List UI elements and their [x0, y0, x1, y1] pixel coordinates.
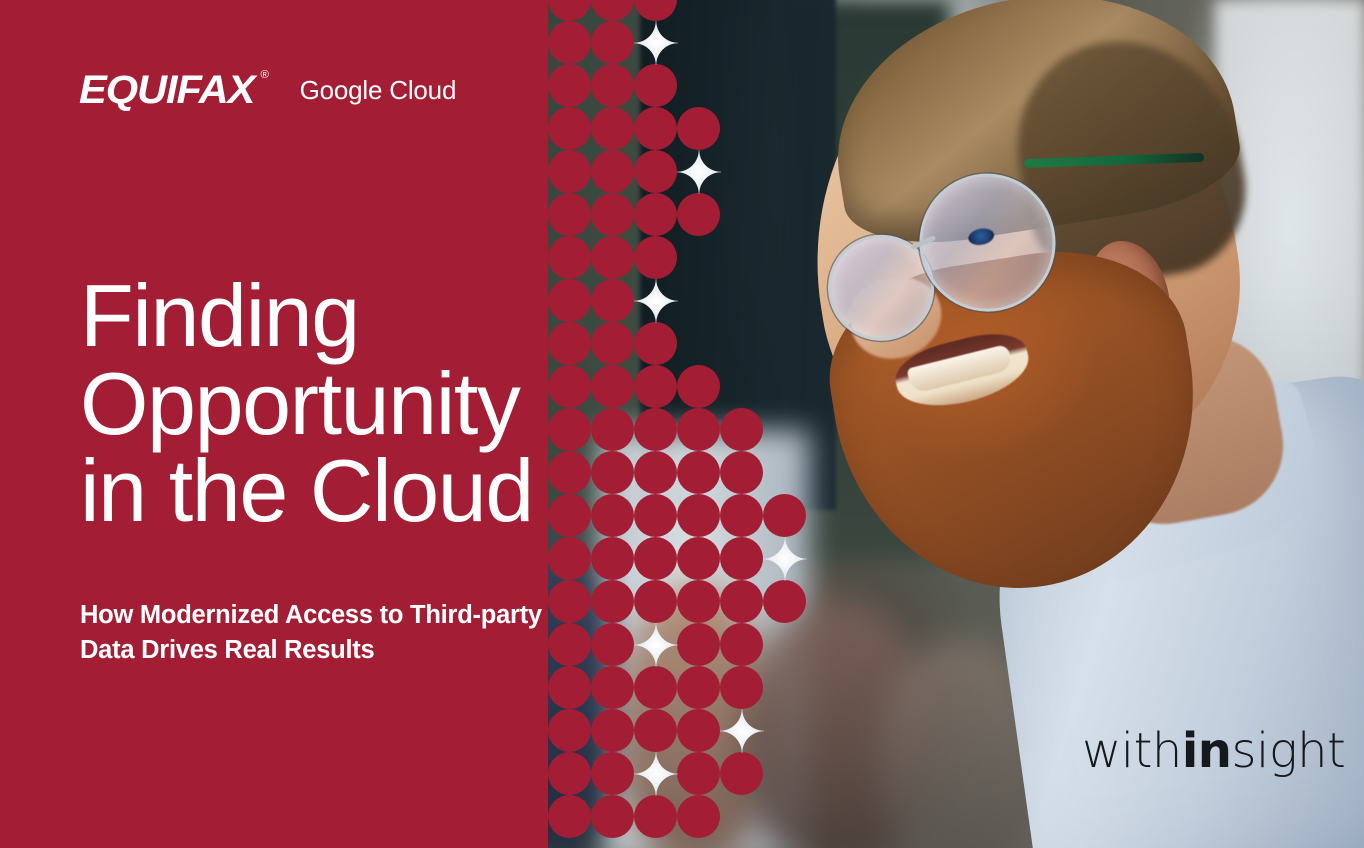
pattern-sparkle-icon	[634, 752, 678, 796]
pattern-circle	[634, 0, 677, 21]
withinsight-part-in: in	[1182, 723, 1232, 779]
pattern-sparkle-icon	[720, 709, 764, 753]
pattern-sparkle-icon	[763, 537, 807, 581]
google-cloud-logo: Google Cloud	[300, 77, 457, 103]
pattern-circle	[548, 537, 591, 580]
pattern-circle	[634, 150, 677, 193]
page-subtitle-line-2: Data Drives Real Results	[80, 633, 620, 668]
pattern-circle	[505, 64, 548, 107]
pattern-circle	[591, 666, 634, 709]
pattern-sparkle-icon	[634, 623, 678, 667]
pattern-circle	[677, 451, 720, 494]
pattern-circle	[591, 64, 634, 107]
pattern-circle	[591, 21, 634, 64]
pattern-circle	[591, 752, 634, 795]
pattern-circle	[591, 193, 634, 236]
pattern-circle	[634, 795, 677, 838]
equifax-wordmark: EQUIFAX	[79, 68, 254, 112]
pattern-circle	[634, 580, 677, 623]
pattern-circle	[720, 580, 763, 623]
registered-trademark-icon: ®	[260, 70, 267, 81]
pattern-circle	[591, 709, 634, 752]
pattern-circle	[634, 537, 677, 580]
page-subtitle: How Modernized Access to Third-party Dat…	[80, 598, 620, 668]
pattern-circle	[677, 107, 720, 150]
pattern-circle	[548, 64, 591, 107]
pattern-circle	[505, 537, 548, 580]
pattern-circle	[548, 0, 591, 21]
pattern-circle	[763, 494, 806, 537]
pattern-sparkle-icon	[677, 150, 721, 194]
pattern-circle	[677, 666, 720, 709]
pattern-circle	[677, 580, 720, 623]
pattern-circle	[720, 451, 763, 494]
pattern-circle	[677, 494, 720, 537]
pattern-circle	[677, 537, 720, 580]
page-subtitle-line-1: How Modernized Access to Third-party	[80, 598, 620, 633]
pattern-circle	[677, 623, 720, 666]
withinsight-part-with: with	[1082, 723, 1182, 779]
pattern-circle	[505, 666, 548, 709]
cloud-word: Cloud	[389, 75, 456, 105]
pattern-circle	[634, 322, 677, 365]
pattern-circle	[634, 494, 677, 537]
pattern-circle	[634, 107, 677, 150]
page-title: Finding Opportunity in the Cloud	[80, 272, 600, 535]
pattern-sparkle-icon	[634, 279, 678, 323]
pattern-circle	[591, 0, 634, 21]
pattern-circle	[677, 408, 720, 451]
pattern-circle	[591, 537, 634, 580]
pattern-circle	[634, 666, 677, 709]
pattern-circle	[548, 21, 591, 64]
pattern-circle	[720, 537, 763, 580]
pattern-circle	[634, 193, 677, 236]
google-word: Google	[300, 75, 383, 105]
pattern-circle	[548, 795, 591, 838]
pattern-circle	[634, 451, 677, 494]
withinsight-part-sight: sight	[1231, 723, 1345, 779]
pattern-circle	[548, 709, 591, 752]
page-title-line-2: Opportunity	[80, 360, 600, 448]
pattern-circle	[505, 795, 548, 838]
pattern-circle	[720, 623, 763, 666]
pattern-circle	[591, 795, 634, 838]
pattern-circle	[677, 795, 720, 838]
pattern-circle	[677, 709, 720, 752]
pattern-circle	[548, 107, 591, 150]
pattern-circle	[591, 150, 634, 193]
pattern-circle	[634, 236, 677, 279]
page-title-line-3: in the Cloud	[80, 447, 600, 535]
pattern-circle	[548, 666, 591, 709]
pattern-circle	[505, 0, 548, 21]
pattern-circle	[505, 107, 548, 150]
pattern-circle	[634, 365, 677, 408]
pattern-circle	[505, 21, 548, 64]
pattern-circle	[634, 64, 677, 107]
equifax-logo: EQUIFAX®	[79, 70, 254, 110]
pattern-circle	[677, 193, 720, 236]
logo-bar: EQUIFAX® Google Cloud	[79, 70, 456, 110]
pattern-circle	[505, 752, 548, 795]
pattern-circle	[634, 709, 677, 752]
pattern-circle	[720, 666, 763, 709]
pattern-circle	[548, 150, 591, 193]
pattern-sparkle-icon	[634, 21, 678, 65]
pattern-circle	[720, 408, 763, 451]
pattern-circle	[720, 752, 763, 795]
pattern-circle	[677, 752, 720, 795]
pattern-circle	[720, 494, 763, 537]
cover-slide: EQUIFAX® Google Cloud Finding Opportunit…	[0, 0, 1364, 848]
pattern-circle	[591, 107, 634, 150]
pattern-circle	[634, 408, 677, 451]
page-title-line-1: Finding	[80, 272, 600, 360]
pattern-circle	[548, 752, 591, 795]
pattern-circle	[763, 580, 806, 623]
pattern-circle	[677, 365, 720, 408]
pattern-circle	[505, 709, 548, 752]
pattern-circle	[505, 150, 548, 193]
pattern-circle	[548, 193, 591, 236]
pattern-circle	[505, 193, 548, 236]
withinsight-logo: withinsight	[1082, 727, 1345, 775]
